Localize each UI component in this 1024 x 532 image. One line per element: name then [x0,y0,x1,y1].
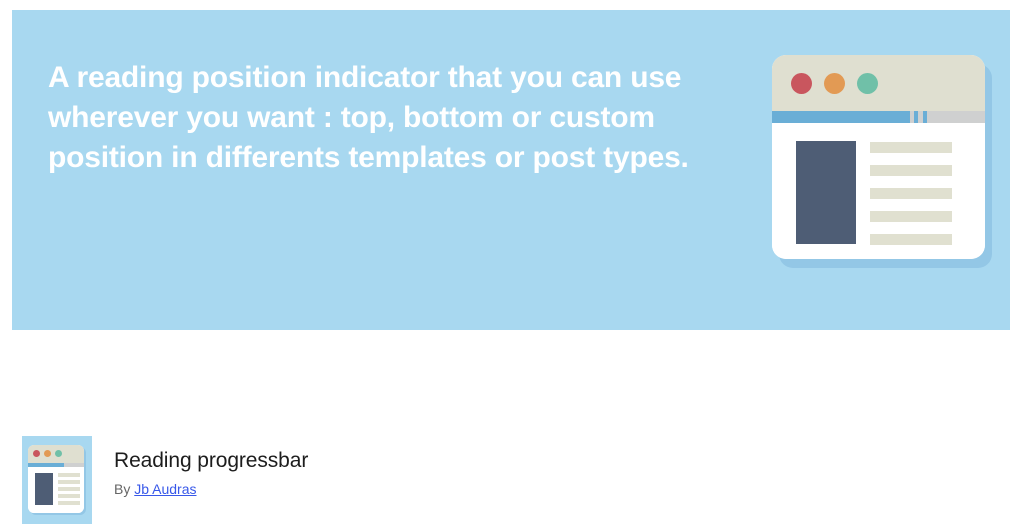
thumbnail-browser-window [28,445,84,513]
illustration-text-lines [870,142,952,257]
thumbnail-image-block [35,473,53,505]
progressbar-fill [772,111,910,123]
thumbnail-text-line [58,494,80,498]
thumbnail-content-area [28,467,84,513]
plugin-summary-row: Reading progressbar By Jb Audras Downloa… [0,430,1024,532]
thumbnail-text-line [58,473,80,477]
plugin-detail-page: A reading position indicator that you ca… [0,0,1024,532]
plugin-author-link[interactable]: Jb Audras [134,481,196,497]
progressbar-tick-2 [923,111,927,123]
illustration-browser-window [772,55,985,259]
illustration-window-dots [791,73,878,94]
thumbnail-text-line [58,501,80,505]
window-dot-green-icon [857,73,878,94]
plugin-text-block: Reading progressbar By Jb Audras [114,448,308,498]
plugin-title: Reading progressbar [114,448,308,474]
banner-illustration [767,50,992,268]
thumbnail-text-lines [58,473,80,508]
progressbar-tick-1 [914,111,918,123]
plugin-thumbnail [22,436,92,524]
banner-heading: A reading position indicator that you ca… [48,58,748,178]
plugin-banner: A reading position indicator that you ca… [12,10,1010,330]
thumbnail-text-line [58,480,80,484]
illustration-image-block [796,141,856,244]
thumbnail-dot-green-icon [55,450,62,457]
illustration-text-line [870,211,952,222]
illustration-content-area [772,123,985,259]
thumbnail-window-dots [33,450,62,457]
thumbnail-dot-red-icon [33,450,40,457]
thumbnail-text-line [58,487,80,491]
illustration-text-line [870,165,952,176]
window-dot-red-icon [791,73,812,94]
plugin-author-line: By Jb Audras [114,480,308,498]
thumbnail-dot-orange-icon [44,450,51,457]
plugin-by-label: By [114,481,130,497]
window-dot-orange-icon [824,73,845,94]
illustration-text-line [870,188,952,199]
illustration-text-line [870,142,952,153]
illustration-reading-progressbar [772,111,985,123]
illustration-text-line [870,234,952,245]
